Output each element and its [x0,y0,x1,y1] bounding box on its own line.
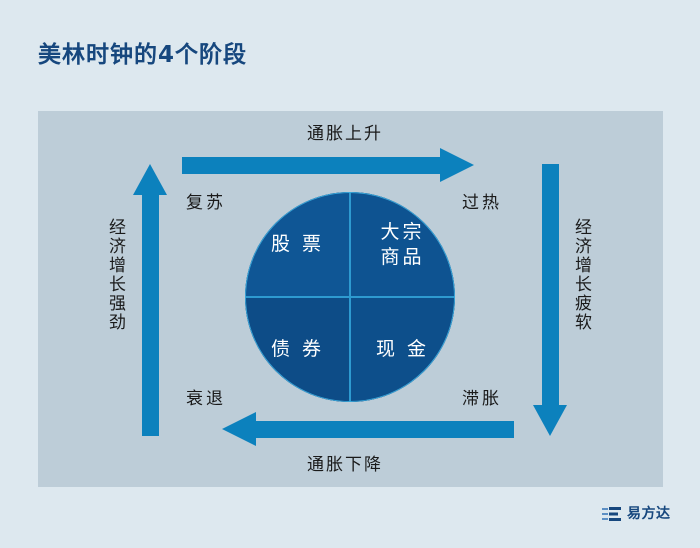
quadrant-label: 债 券 [271,337,324,362]
efunds-e-mark-icon [602,506,622,520]
arrow-shaft [142,194,159,436]
axis-label-inflation-down: 通胀下降 [307,450,383,475]
investment-clock-circle: 股 票 大宗 商品 债 券 现 金 [245,192,455,402]
quadrant-bonds: 债 券 [245,297,350,402]
arrow-inflation-down-icon [222,412,514,446]
phase-label-recovery: 复苏 [186,188,226,213]
quadrant-label: 股 票 [271,232,324,257]
axis-label-growth-strong: 经济增长强劲 [103,218,128,332]
arrow-head-left-icon [222,412,256,446]
quadrant-stocks: 股 票 [245,192,350,297]
phase-label-overheat: 过热 [462,188,502,213]
slide-canvas: 美林时钟的4个阶段 通胀上升 通胀下降 经济增长强劲 经济增长疲软 复苏 过热 … [0,0,700,548]
arrow-inflation-up-icon [182,148,474,182]
quadrant-cash: 现 金 [350,297,455,402]
phase-label-stagflation: 滞胀 [462,384,502,409]
quadrant-commodities: 大宗 商品 [350,192,455,297]
brand-logo: 易方达 [602,503,671,523]
quadrant-label: 现 金 [376,337,429,362]
arrow-shaft [542,164,559,406]
arrow-head-up-icon [133,164,167,195]
quadrant-label: 大宗 商品 [380,220,424,270]
axis-label-growth-weak: 经济增长疲软 [569,218,594,332]
arrow-head-down-icon [533,405,567,436]
brand-name: 易方达 [627,503,671,523]
page-title: 美林时钟的4个阶段 [38,40,247,70]
arrow-head-right-icon [440,148,474,182]
arrow-shaft [252,421,514,438]
phase-label-recession: 衰退 [186,384,226,409]
arrow-growth-strong-icon [133,164,167,436]
axis-label-inflation-up: 通胀上升 [307,119,383,144]
quadrant-divider-horizontal [245,296,455,298]
arrow-growth-weak-icon [533,164,567,436]
arrow-shaft [182,157,444,174]
